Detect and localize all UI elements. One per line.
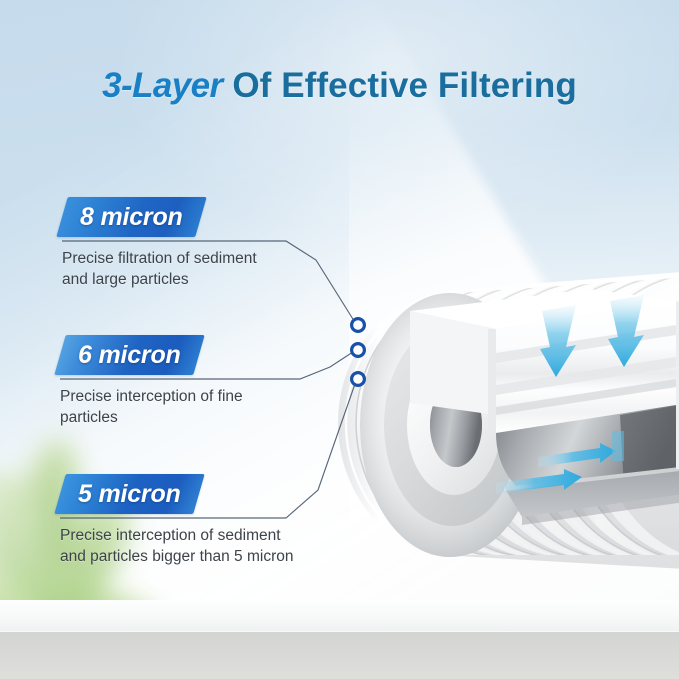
page-title-emphasis: 3-Layer <box>102 66 222 105</box>
badge-8-micron: 8 micron <box>56 197 206 237</box>
infographic-canvas: 3-Layer Of Effective Filtering 8 micron … <box>0 0 679 679</box>
badge-6-micron-label: 6 micron <box>60 335 199 375</box>
counter-surface <box>0 600 679 633</box>
description-5-micron: Precise interception of sediment and par… <box>60 525 294 567</box>
page-title-rest: Of Effective Filtering <box>232 66 576 105</box>
filter-cartridge-illustration <box>290 255 679 585</box>
page-title: 3-Layer Of Effective Filtering <box>0 66 679 106</box>
description-6-micron: Precise interception of fine particles <box>60 386 243 428</box>
description-8-micron: Precise filtration of sediment and large… <box>62 248 257 290</box>
badge-8-micron-label: 8 micron <box>62 197 201 237</box>
badge-5-micron-label: 5 micron <box>60 474 199 514</box>
badge-5-micron: 5 micron <box>54 474 204 514</box>
callout-5-micron: 5 micron Precise interception of sedimen… <box>60 474 294 567</box>
counter-front-edge <box>0 632 679 679</box>
badge-6-micron: 6 micron <box>54 335 204 375</box>
callout-6-micron: 6 micron Precise interception of fine pa… <box>60 335 243 428</box>
callout-8-micron: 8 micron Precise filtration of sediment … <box>62 197 257 290</box>
